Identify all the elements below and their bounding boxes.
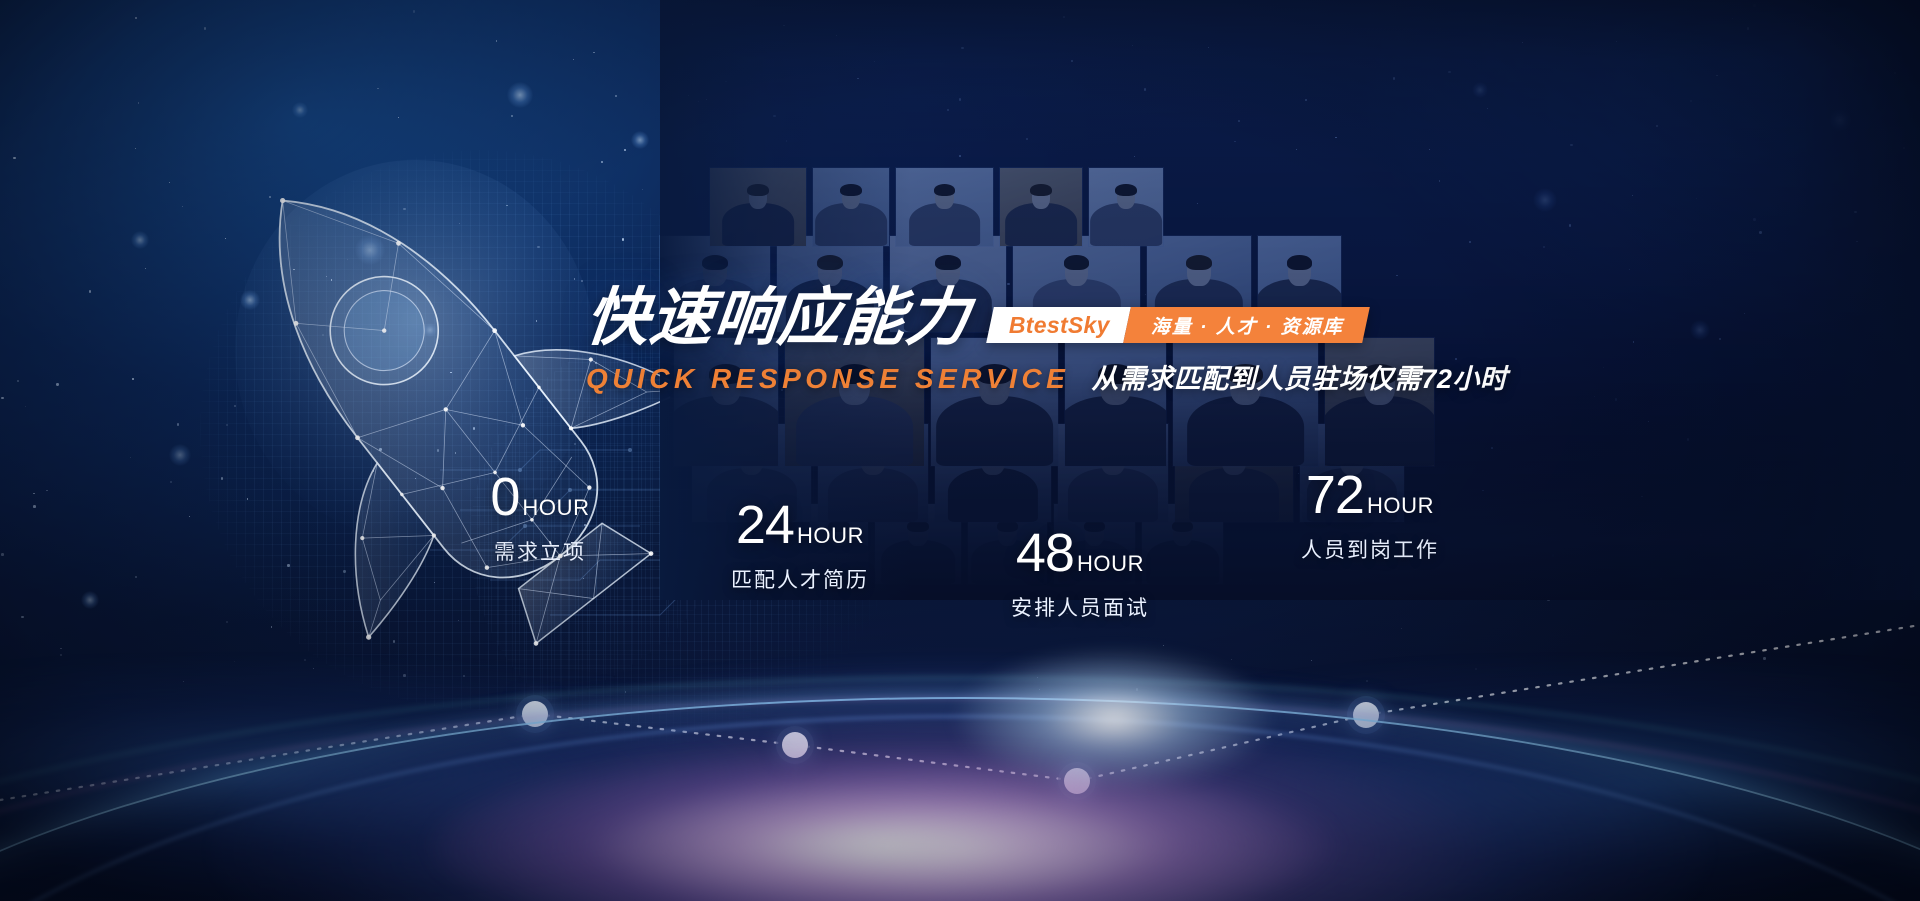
milestone-unit: HOUR xyxy=(522,495,589,521)
rocket-wireframe-icon xyxy=(150,120,670,680)
headline-subtitle-cn: 从需求匹配到人员驻场仅需72小时 xyxy=(1091,357,1507,396)
brand-badge-name: BtestSky xyxy=(986,307,1130,343)
brand-tagline-text: 海量 · 人才 · 资源库 xyxy=(1151,312,1344,339)
timeline-milestone[interactable]: 0HOUR需求立项 xyxy=(490,472,589,566)
headline-block: 快速响应能力 BtestSky 海量 · 人才 · 资源库 QUICK RESP… xyxy=(586,287,1566,396)
milestone-unit: HOUR xyxy=(797,523,864,549)
milestone-label: 人员到岗工作 xyxy=(1301,534,1439,564)
timeline-milestone[interactable]: 24HOUR匹配人才简历 xyxy=(731,500,869,594)
milestone-label: 需求立项 xyxy=(490,536,589,566)
brand-badge: BtestSky 海量 · 人才 · 资源库 xyxy=(986,307,1369,343)
brand-name-text: BtestSky xyxy=(1009,312,1110,339)
milestone-value: 72 xyxy=(1306,470,1364,521)
milestone-unit: HOUR xyxy=(1367,493,1434,519)
headline-subtitle-en: QUICK RESPONSE SERVICE xyxy=(586,363,1069,395)
brand-badge-tagline: 海量 · 人才 · 资源库 xyxy=(1123,307,1369,343)
hero-banner: 快速响应能力 BtestSky 海量 · 人才 · 资源库 QUICK RESP… xyxy=(0,0,1920,901)
milestone-label: 匹配人才简历 xyxy=(731,564,869,594)
milestone-value: 0 xyxy=(490,472,519,523)
timeline-milestone[interactable]: 72HOUR人员到岗工作 xyxy=(1301,470,1439,564)
horizon-glow xyxy=(0,601,1920,901)
milestone-value: 24 xyxy=(736,500,794,551)
milestone-value: 48 xyxy=(1016,528,1074,579)
milestone-unit: HOUR xyxy=(1077,551,1144,577)
headline-title: 快速响应能力 xyxy=(583,287,974,350)
